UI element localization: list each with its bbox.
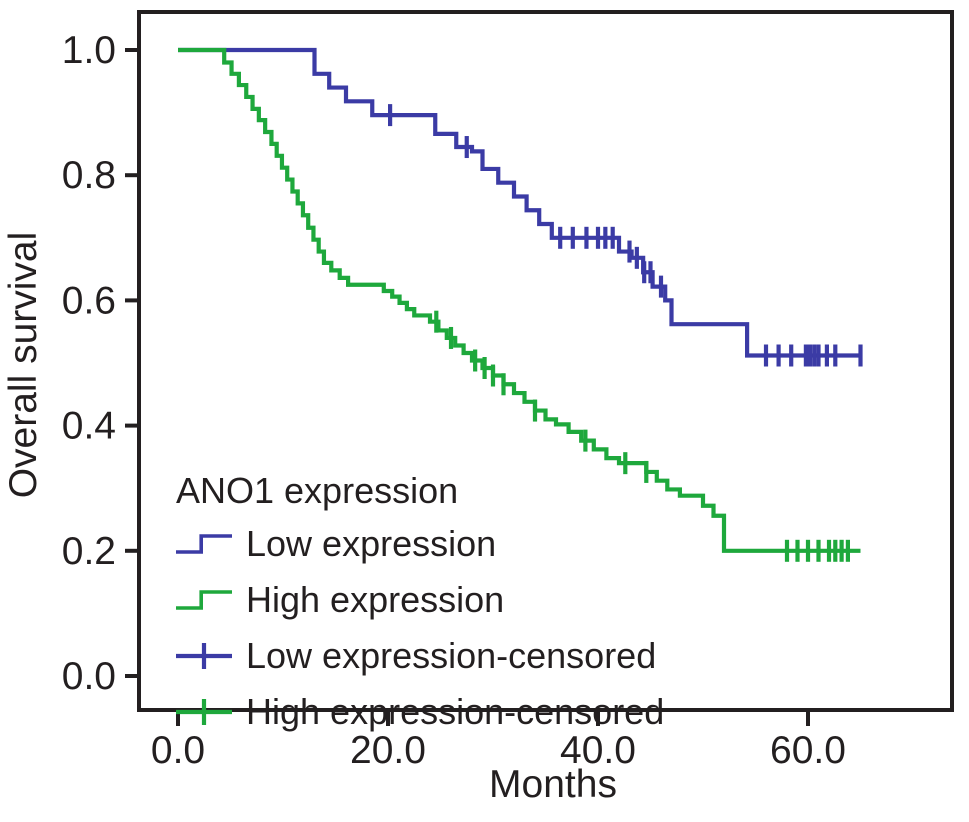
legend-items: Low expressionHigh expressionLow express…	[176, 523, 664, 732]
legend-item-label: Low expression-censored	[246, 635, 656, 676]
kaplan-meier-plot: 0.00.20.40.60.81.0 0.020.040.060.0 ANO1 …	[0, 0, 969, 822]
y-tick-label: 0.2	[62, 530, 116, 573]
x-axis-title: Months	[489, 763, 617, 806]
x-tick-label: 20.0	[350, 729, 426, 772]
legend-item: Low expression-censored	[176, 635, 656, 676]
survival-chart-figure: 0.00.20.40.60.81.0 0.020.040.060.0 ANO1 …	[0, 0, 969, 822]
survival-curve-low-expression	[178, 50, 861, 355]
legend-step-swatch	[176, 592, 232, 608]
censor-marks	[390, 104, 860, 562]
y-tick-label: 0.0	[62, 655, 116, 698]
y-axis-title: Overall survival	[2, 232, 45, 499]
legend-item-label: High expression	[246, 579, 504, 620]
x-tick-label: 0.0	[151, 729, 205, 772]
y-tick-label: 0.6	[62, 279, 116, 322]
y-tick-label: 0.8	[62, 154, 116, 197]
y-axis-ticks: 0.00.20.40.60.81.0	[62, 29, 139, 698]
y-tick-label: 0.4	[62, 405, 116, 448]
legend-item: High expression	[176, 579, 504, 620]
legend-item: Low expression	[176, 523, 496, 564]
x-tick-label: 60.0	[770, 729, 846, 772]
legend-item-label: High expression-censored	[246, 691, 664, 732]
legend-item-label: Low expression	[246, 523, 496, 564]
legend-item: High expression-censored	[176, 691, 664, 732]
y-tick-label: 1.0	[62, 29, 116, 72]
legend-title: ANO1 expression	[176, 470, 458, 511]
chart-legend: ANO1 expression Low expressionHigh expre…	[176, 470, 664, 732]
legend-step-swatch	[176, 536, 232, 552]
